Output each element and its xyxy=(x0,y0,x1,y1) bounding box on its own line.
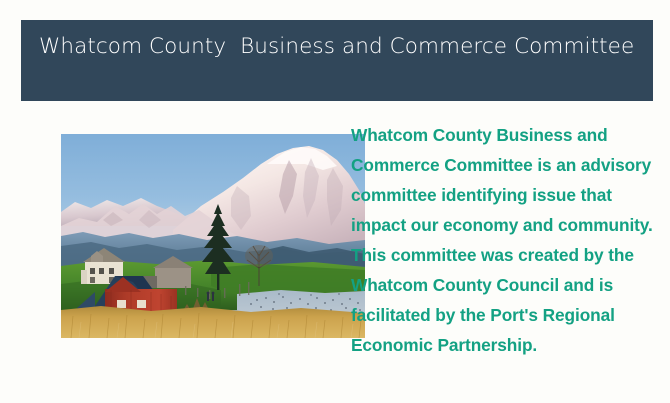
mount-baker-farm-photo xyxy=(61,134,365,338)
description-paragraph: Whatcom County Business and Commerce Com… xyxy=(351,120,653,360)
title-banner: Whatcom County Business and Commerce Com… xyxy=(21,20,653,101)
photo-image xyxy=(61,134,365,338)
description-block: Whatcom County Business and Commerce Com… xyxy=(351,120,653,360)
page-title: Whatcom County Business and Commerce Com… xyxy=(39,30,635,64)
